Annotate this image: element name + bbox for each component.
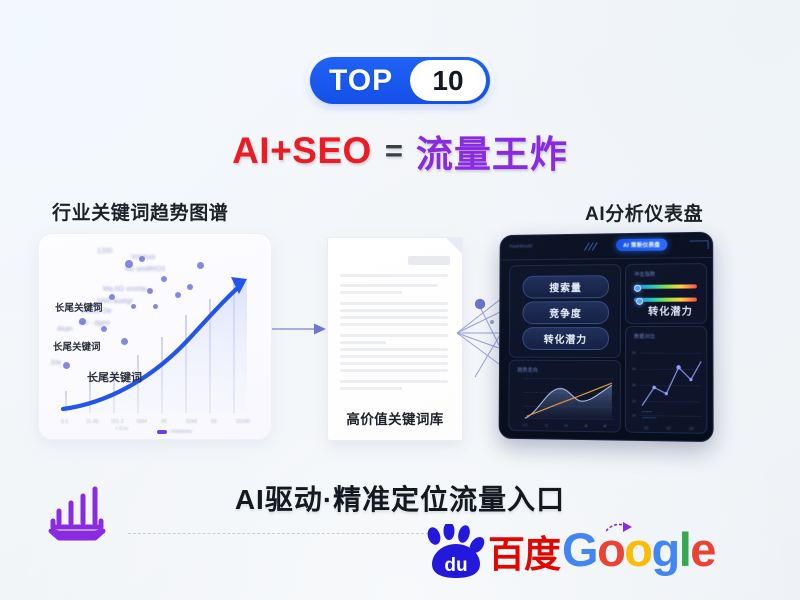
chip-label: 搜索量 xyxy=(549,279,581,294)
chart-blurred-keyword: 5% xyxy=(51,360,61,367)
ai-dashboard-panel: Hadrbnubl AI 策新仪表盘 搜索量 竞争度 xyxy=(497,233,712,440)
chart-x-tick: 1844 xyxy=(136,419,147,425)
dashboard-title-badge: AI 策新仪表盘 xyxy=(616,238,667,251)
chart-node-dot xyxy=(139,256,145,262)
dashboard-decoration-bracket xyxy=(689,240,709,250)
dashboard-brand-label: Hadrbnubl xyxy=(509,243,533,248)
google-wordmark: Google xyxy=(562,525,715,574)
chart-node-dot xyxy=(109,294,115,300)
dashboard-badge-label: AI 策新仪表盘 xyxy=(623,241,660,250)
chart-node-dot xyxy=(187,284,193,290)
chart-node-dot xyxy=(147,288,153,294)
decorative-dashed-rule xyxy=(128,533,434,534)
dashboard-area-chart-panel: 趋势走向 xyxy=(508,360,621,433)
title-part-ai-seo: AI+SEO xyxy=(232,130,372,172)
dashboard-screen: Hadrbnubl AI 策新仪表盘 搜索量 竞争度 xyxy=(499,232,714,442)
baidu-logo: du 百度 xyxy=(420,524,560,582)
top-badge-number: 10 xyxy=(410,60,486,101)
chart-node-dot xyxy=(79,318,86,325)
section-title-ai-dashboard: AI分析仪表盘 xyxy=(585,199,703,226)
metric-chip-conversion[interactable]: 转化潜力 xyxy=(522,327,609,350)
gauge-bar xyxy=(634,284,697,289)
gauge-marker-dot[interactable] xyxy=(636,297,643,304)
doc-skeleton-line xyxy=(404,284,438,287)
chart-legend: Vobdxmo xyxy=(157,429,192,435)
chart-node-dot xyxy=(125,260,133,268)
doc-skeleton-line xyxy=(340,369,448,372)
line-chart-graphic xyxy=(626,327,707,433)
doc-skeleton-line xyxy=(340,362,448,365)
page-fold-corner xyxy=(446,238,462,254)
play-arrow-icon xyxy=(606,522,632,536)
page-title: AI+SEO = 流量王炸 xyxy=(0,127,800,175)
chart-x-tick: 48 xyxy=(161,419,167,425)
chart-node-dot xyxy=(101,326,107,332)
title-part-traffic: 流量王炸 xyxy=(416,124,568,178)
doc-skeleton-line xyxy=(340,284,412,287)
chart-node-dot xyxy=(63,362,70,369)
chip-label: 转化潜力 xyxy=(544,331,587,346)
area-chart-graphic xyxy=(509,361,620,432)
keyword-trend-chart-card: VolatuixNo sindRIO3Ma,hO snorlai0Al5 aua… xyxy=(38,233,272,440)
chart-node-dot xyxy=(197,262,204,269)
top-badge-label: TOP xyxy=(329,64,393,98)
baidu-paw-icon: du xyxy=(420,524,490,580)
section-title-keyword-trend: 行业关键词趋势图谱 xyxy=(52,198,228,225)
top-rank-badge: TOP 10 xyxy=(310,57,490,104)
chart-x-tick: 10240 xyxy=(236,419,250,425)
doc-skeleton-line xyxy=(340,274,448,277)
chart-annotation-label: 长尾关键词 xyxy=(55,300,103,314)
chart-blurred-keyword: Ma,hO snorlai xyxy=(103,286,147,293)
doc-skeleton-line xyxy=(340,302,448,305)
chart-x-tick: 5049 xyxy=(186,419,197,425)
doc-skeleton-line xyxy=(340,309,448,312)
chart-node-dot xyxy=(121,338,128,345)
gauge-overlay-label: 转化潜力 xyxy=(648,303,693,318)
chart-x-tick: 0-1 xyxy=(61,419,68,425)
slide-canvas: TOP 10 AI+SEO = 流量王炸 行业关键词趋势图谱 AI分析仪表盘 xyxy=(0,0,800,600)
chart-annotation-label: 长尾关键词 xyxy=(53,339,101,353)
doc-skeleton-line xyxy=(340,380,448,383)
baidu-cn-text: 百度 xyxy=(488,536,560,573)
dashboard-gauge-panel: 冲击指数 转化潜力 xyxy=(625,263,707,324)
legend-label: Vobdxmo xyxy=(171,429,192,435)
doc-skeleton-line xyxy=(340,355,448,358)
doc-skeleton-line xyxy=(340,316,448,319)
chart-x-tick: 69 xyxy=(211,419,217,425)
google-letter: g xyxy=(652,523,679,576)
google-letter: G xyxy=(562,523,597,576)
chart-annotation-label: 长尾关键词 xyxy=(87,369,142,385)
chart-x-tick: 11-45 xyxy=(86,419,98,425)
chart-blurred-keyword: Aluin xyxy=(57,326,73,333)
metric-chip-competition[interactable]: 竞争度 xyxy=(522,301,609,324)
gauge-marker-dot[interactable] xyxy=(634,284,641,291)
chart-x-tick: 101-2 xyxy=(111,419,124,425)
doc-skeleton-line xyxy=(340,387,402,390)
keyword-library-document-card: 高价值关键词库 xyxy=(327,237,463,441)
chart-plot-area: VolatuixNo sindRIO3Ma,hO snorlai0Al5 aua… xyxy=(39,234,271,439)
doc-skeleton-line xyxy=(340,323,448,326)
metric-chip-search-volume[interactable]: 搜索量 xyxy=(523,275,610,298)
flow-arrow-chart-to-doc xyxy=(272,322,328,336)
doc-card-label: 高价值关键词库 xyxy=(328,408,462,428)
google-letter: l xyxy=(679,523,691,576)
dashboard-line-chart-panel: 数据对比 504 xyxy=(625,326,708,434)
title-equals-sign: = xyxy=(385,133,403,169)
doc-skeleton-line xyxy=(340,348,448,351)
baidu-du-text: du xyxy=(444,555,467,576)
gauge-bar xyxy=(634,298,697,302)
google-letter: e xyxy=(690,523,715,576)
doc-skeleton-line xyxy=(340,341,350,344)
dashboard-decoration-slashes xyxy=(582,241,598,251)
chart-node-dot xyxy=(175,292,181,298)
chip-label: 竞争度 xyxy=(549,305,581,320)
chart-x-axis-label: + Eou xyxy=(115,426,128,432)
doc-skeleton-line xyxy=(340,334,448,337)
bar-chart-pedestal-icon xyxy=(45,483,121,545)
google-logo: Google xyxy=(562,525,750,583)
dashboard-metric-chip-panel: 搜索量 竞争度 转化潜力 xyxy=(509,264,621,358)
gauge-panel-caption: 冲击指数 xyxy=(634,271,655,278)
doc-skeleton-line xyxy=(340,291,402,294)
chart-node-dot xyxy=(161,276,167,282)
legend-swatch xyxy=(157,430,167,434)
doc-header-block xyxy=(408,256,450,265)
chart-blurred-keyword: 1200 xyxy=(97,248,113,255)
